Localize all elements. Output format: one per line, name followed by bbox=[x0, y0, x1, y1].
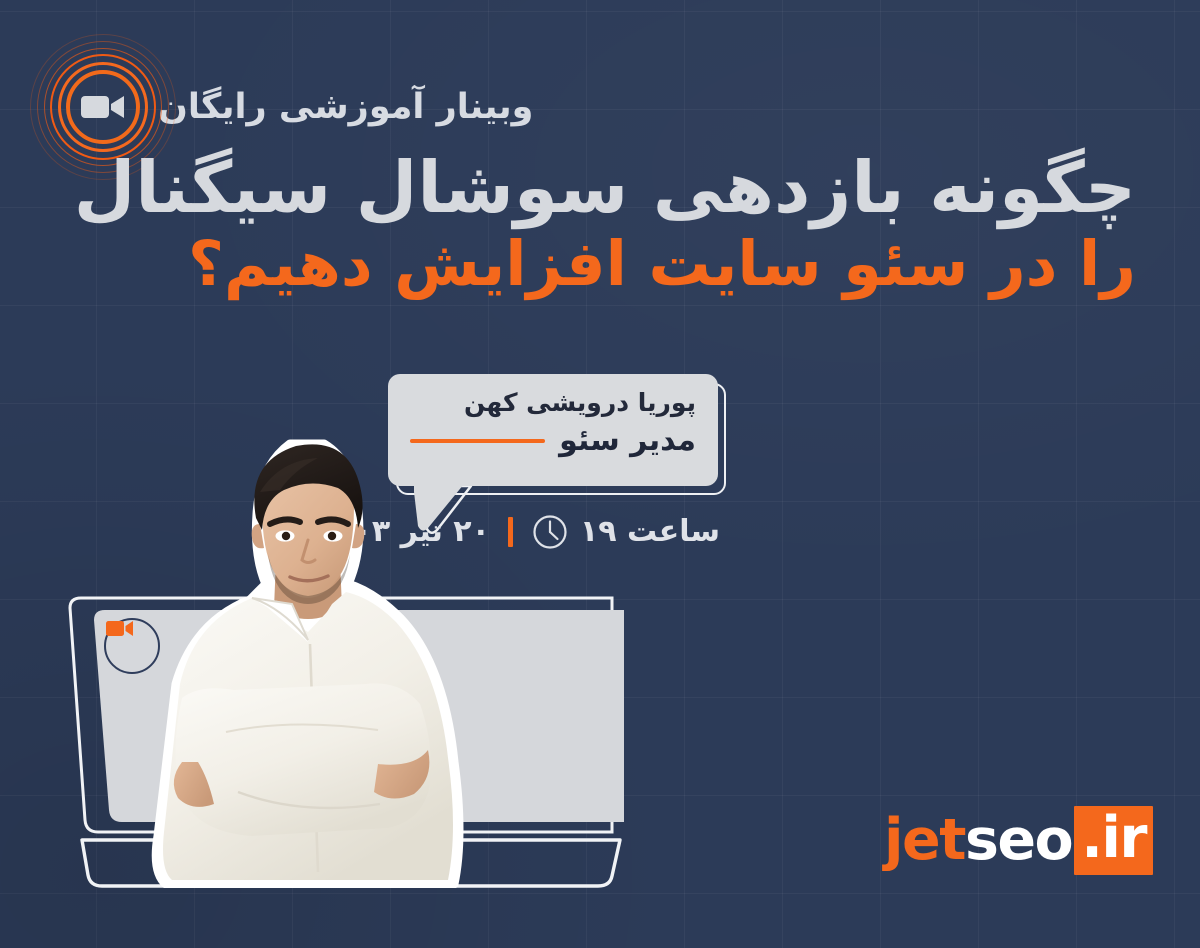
jetseo-logo[interactable]: jet seo .ir bbox=[884, 806, 1153, 875]
speaker-name: پوریا درویشی کهن bbox=[410, 389, 696, 417]
logo-part-ir: .ir bbox=[1074, 806, 1153, 875]
logo-part-jet: jet bbox=[884, 812, 965, 869]
logo-part-seo: seo bbox=[965, 812, 1072, 869]
time-text: ساعت ۱۹ bbox=[580, 517, 720, 547]
speaker-role: مدیر سئو bbox=[559, 426, 696, 456]
camera-glyph bbox=[81, 94, 125, 120]
page-title: چگونه بازدهی سوشال سیگنال را در سئو سایت… bbox=[48, 150, 1152, 297]
speaker-photo bbox=[142, 432, 472, 888]
headline-line-1: چگونه بازدهی سوشال سیگنال bbox=[48, 150, 1152, 225]
webinar-label: وبینار آموزشی رایگان bbox=[158, 90, 533, 125]
camera-glyph bbox=[106, 620, 134, 637]
schedule-separator bbox=[508, 517, 513, 547]
clock-icon bbox=[531, 513, 569, 551]
time-group: ساعت ۱۹ bbox=[531, 513, 720, 551]
webinar-banner: وبینار آموزشی رایگان چگونه بازدهی سوشال … bbox=[0, 0, 1200, 948]
headline-line-2: را در سئو سایت افزایش دهیم؟ bbox=[48, 231, 1152, 297]
person-illustration bbox=[142, 432, 472, 888]
